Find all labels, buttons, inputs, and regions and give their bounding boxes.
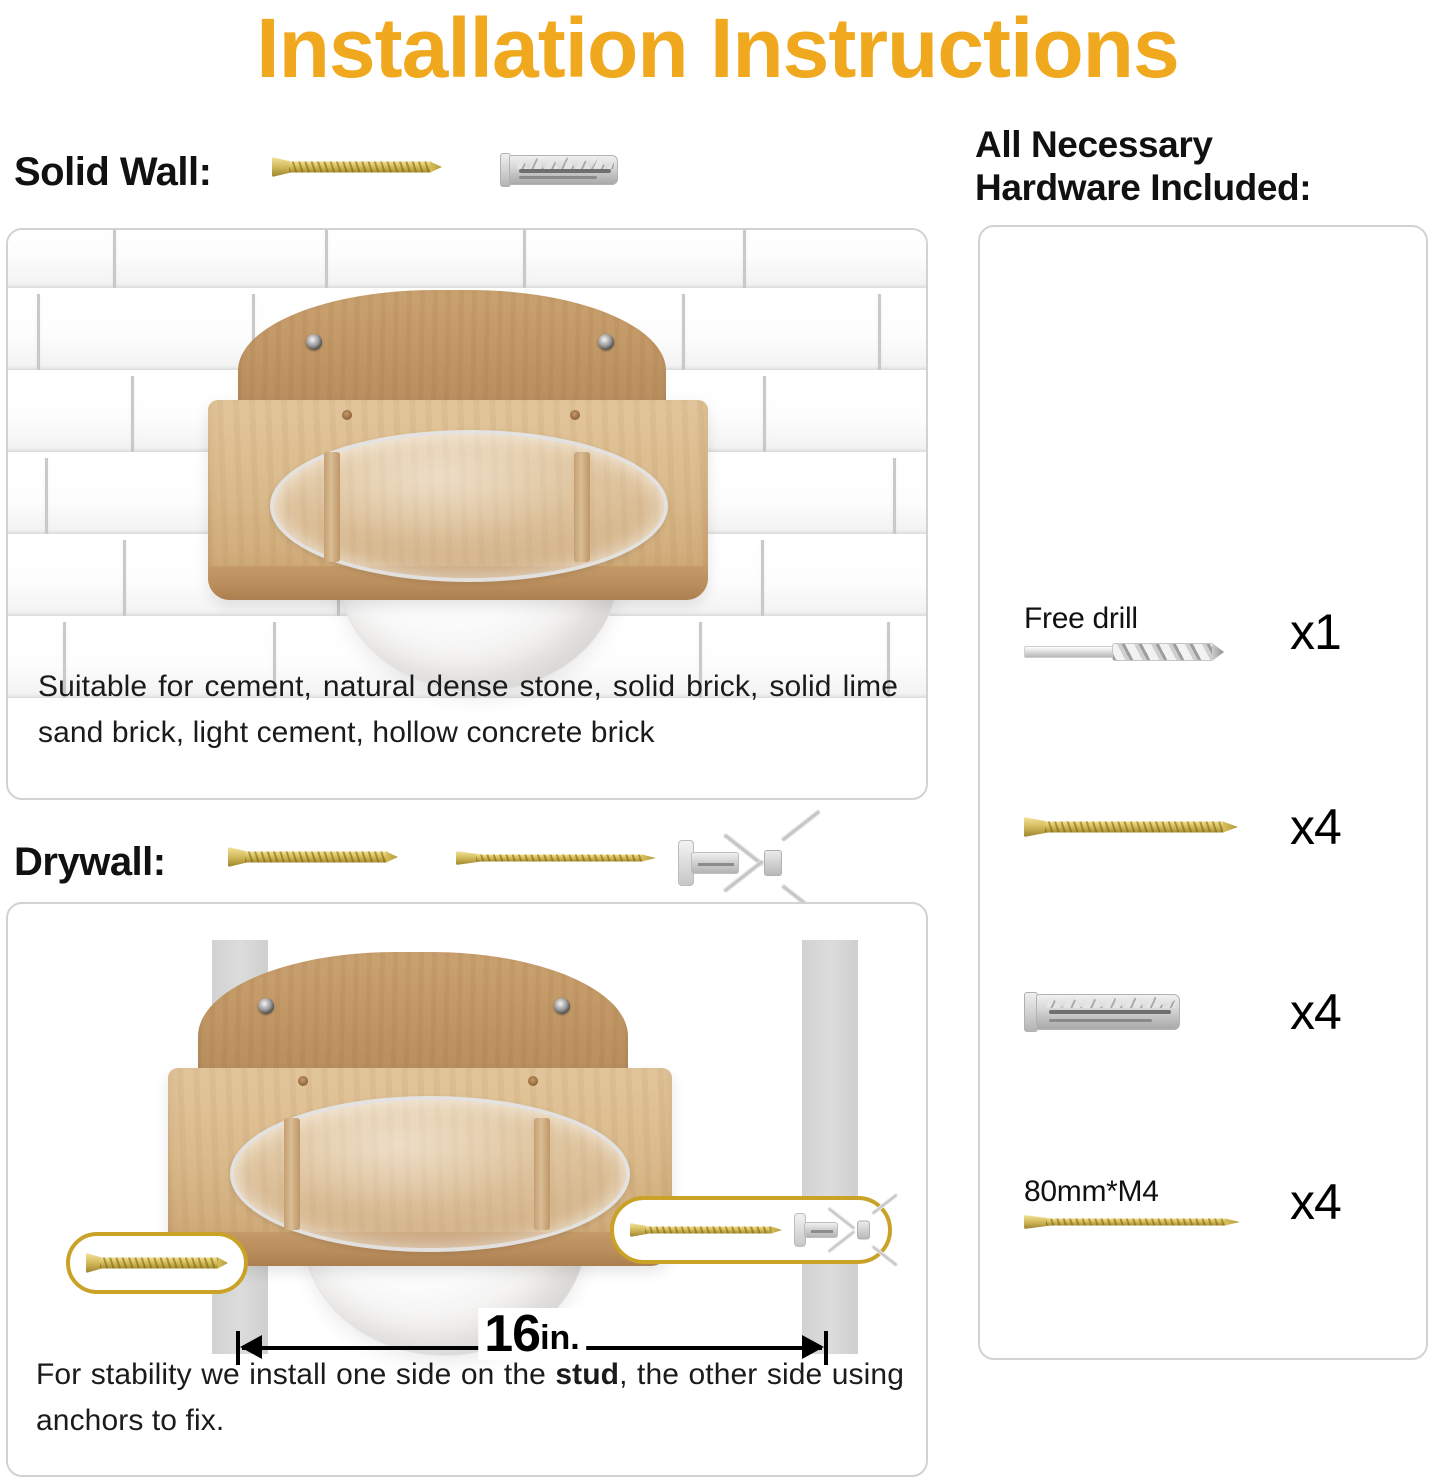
toggle-anchor-icon xyxy=(678,828,788,898)
hardware-item-qty: x4 xyxy=(1290,983,1341,1041)
left-callout xyxy=(66,1232,248,1294)
cat-perch-product-illustration-solid xyxy=(8,230,928,670)
hardware-included-heading: All Necessary Hardware Included: xyxy=(975,124,1405,210)
right-callout xyxy=(610,1196,892,1264)
drill-bit-icon xyxy=(1024,642,1224,662)
drywall-heading: Drywall: xyxy=(14,840,166,885)
gold-screw-icon xyxy=(228,846,398,878)
long-gold-screw-icon xyxy=(630,1223,782,1237)
hardware-heading-line2: Hardware Included: xyxy=(975,167,1405,210)
solid-wall-caption: Suitable for cement, natural dense stone… xyxy=(38,664,898,755)
drywall-caption-part1: For stability we install one side on the xyxy=(36,1358,555,1391)
long-gold-screw-icon xyxy=(456,850,656,876)
hardware-item-qty: x4 xyxy=(1290,1173,1341,1231)
wall-plug-anchor-icon xyxy=(1024,994,1180,1030)
hardware-item-wall-plug: x4 xyxy=(980,967,1428,1057)
hardware-item-label: Free drill xyxy=(1024,602,1280,636)
toggle-anchor-icon xyxy=(794,1203,872,1257)
hardware-item-drill: Free drill x1 xyxy=(980,587,1428,677)
gold-screw-icon xyxy=(86,1255,228,1271)
hardware-item-qty: x1 xyxy=(1290,603,1341,661)
drywall-caption-bold: stud xyxy=(555,1358,619,1391)
wall-plug-anchor-icon xyxy=(500,155,618,189)
gold-screw-icon xyxy=(272,156,442,188)
hardware-item-screw: x4 xyxy=(980,782,1428,872)
hardware-included-panel: Free drill x1 x4 xyxy=(978,225,1428,1360)
hardware-item-qty: x4 xyxy=(1290,798,1341,856)
hardware-item-label: 80mm*M4 xyxy=(1024,1175,1280,1209)
long-gold-screw-icon xyxy=(1024,1215,1240,1229)
cat-perch-product-illustration-drywall xyxy=(8,904,928,1364)
hardware-heading-line1: All Necessary xyxy=(975,124,1405,167)
installation-instructions-page: Installation Instructions Solid Wall: Al… xyxy=(0,0,1435,1483)
gold-screw-icon xyxy=(1024,816,1238,838)
solid-wall-photo-panel: Suitable for cement, natural dense stone… xyxy=(6,228,928,800)
solid-wall-heading: Solid Wall: xyxy=(14,150,211,195)
hardware-item-long-screw: 80mm*M4 x4 xyxy=(980,1157,1428,1247)
page-title: Installation Instructions xyxy=(0,4,1435,92)
drywall-caption: For stability we install one side on the… xyxy=(36,1352,904,1443)
